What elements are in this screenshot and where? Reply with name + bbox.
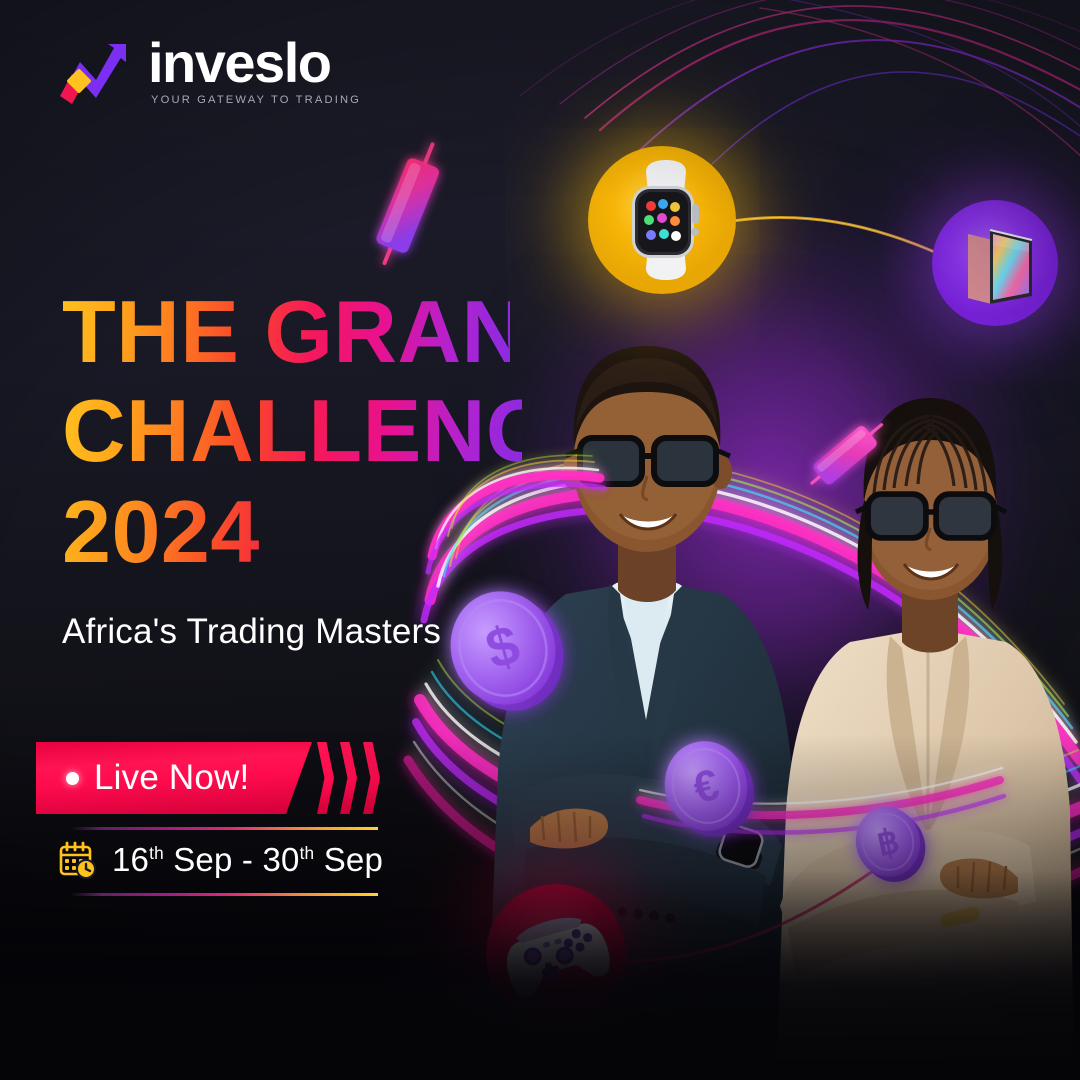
live-dot-icon bbox=[66, 772, 79, 785]
date-start-month: Sep bbox=[173, 841, 232, 878]
subheading: Africa's Trading Masters bbox=[62, 612, 441, 652]
live-now-badge[interactable]: Live Now! bbox=[36, 742, 380, 814]
brand-logo[interactable]: inveslo YOUR GATEWAY TO TRADING bbox=[58, 36, 361, 106]
live-now-label: Live Now! bbox=[94, 758, 249, 798]
date-separator: - bbox=[242, 841, 253, 878]
chevron-right-icon bbox=[340, 742, 357, 814]
arrow-growth-icon bbox=[58, 36, 132, 106]
date-end-ordinal: th bbox=[300, 843, 315, 863]
headline-line-2: CHALLENGE bbox=[62, 383, 582, 478]
logo-tagline: YOUR GATEWAY TO TRADING bbox=[151, 94, 361, 106]
headline-line-3: 2024 bbox=[62, 484, 582, 579]
logo-wordmark: inveslo bbox=[148, 36, 361, 91]
date-end-day: 30 bbox=[262, 841, 299, 878]
divider-top bbox=[70, 827, 378, 830]
date-start-day: 16 bbox=[112, 841, 149, 878]
divider-bottom bbox=[70, 893, 378, 896]
date-range-row: 16th Sep - 30th Sep bbox=[58, 840, 383, 880]
bottom-fade bbox=[0, 870, 1080, 1080]
chevron-right-icon bbox=[317, 742, 334, 814]
date-range-text: 16th Sep - 30th Sep bbox=[112, 841, 383, 879]
chevron-group bbox=[317, 742, 380, 814]
headline-line-1: THE GRAND bbox=[62, 284, 582, 379]
promo-poster: $ € ฿ bbox=[0, 0, 1080, 1080]
date-end-month: Sep bbox=[324, 841, 383, 878]
live-now-bar[interactable]: Live Now! bbox=[36, 742, 312, 814]
calendar-clock-icon bbox=[58, 840, 98, 880]
date-start-ordinal: th bbox=[149, 843, 164, 863]
headline-block: THE GRAND CHALLENGE 2024 bbox=[62, 284, 582, 579]
chevron-right-icon bbox=[363, 742, 380, 814]
